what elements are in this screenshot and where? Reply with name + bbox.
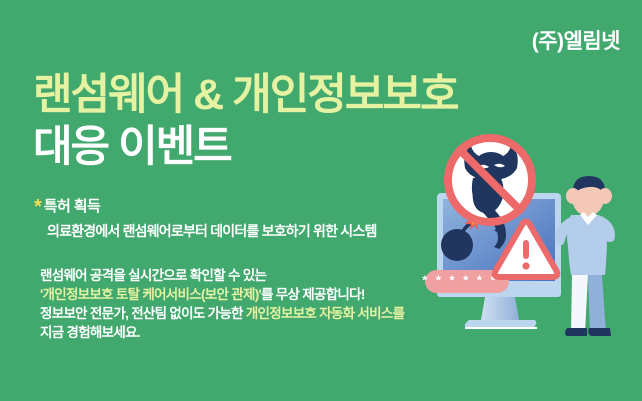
patent-heading-row: * 특허 획득 xyxy=(34,199,377,217)
body-copy: 랜섬웨어 공격을 실시간으로 확인할 수 있는 '개인정보보호 토탈 케어서비스… xyxy=(40,266,404,342)
security-illustration: * * * * * * * xyxy=(415,130,642,355)
headline-line-1: 랜섬웨어 & 개인정보보호 xyxy=(33,72,458,118)
body-line-2-highlight: '개인정보보호 토탈 케어서비스(보안 관제)' xyxy=(40,287,261,302)
asterisk-icon: * xyxy=(34,197,42,217)
headline-line-2: 대응 이벤트 xyxy=(33,124,458,170)
body-line-1: 랜섬웨어 공격을 실시간으로 확인할 수 있는 xyxy=(40,266,404,285)
body-line-3-highlight: 개인정보보호 자동화 서비스를 xyxy=(246,306,404,321)
body-line-2-rest: 를 무상 제공합니다! xyxy=(261,287,365,302)
company-logo: (주)엘림넷 xyxy=(532,31,620,52)
promo-banner: (주)엘림넷 랜섬웨어 & 개인정보보호 대응 이벤트 * 특허 획득 의료환경… xyxy=(0,0,642,401)
worried-person-figure xyxy=(555,176,615,336)
body-line-4: 지금 경험해보세요. xyxy=(40,323,404,342)
body-line-3: 정보보안 전문가, 전산팀 없이도 가능한 개인정보보호 자동화 서비스를 xyxy=(40,304,404,323)
body-line-2: '개인정보보호 토탈 케어서비스(보안 관제)'를 무상 제공합니다! xyxy=(40,285,404,304)
headline: 랜섬웨어 & 개인정보보호 대응 이벤트 xyxy=(33,72,458,171)
patent-block: * 특허 획득 의료환경에서 랜섬웨어로부터 데이터를 보호하기 위한 시스템 xyxy=(34,199,377,239)
patent-title: 특허 획득 xyxy=(44,199,100,216)
patent-description: 의료환경에서 랜섬웨어로부터 데이터를 보호하기 위한 시스템 xyxy=(47,224,377,239)
body-line-3-rest: 정보보안 전문가, 전산팀 없이도 가능한 xyxy=(40,306,246,321)
